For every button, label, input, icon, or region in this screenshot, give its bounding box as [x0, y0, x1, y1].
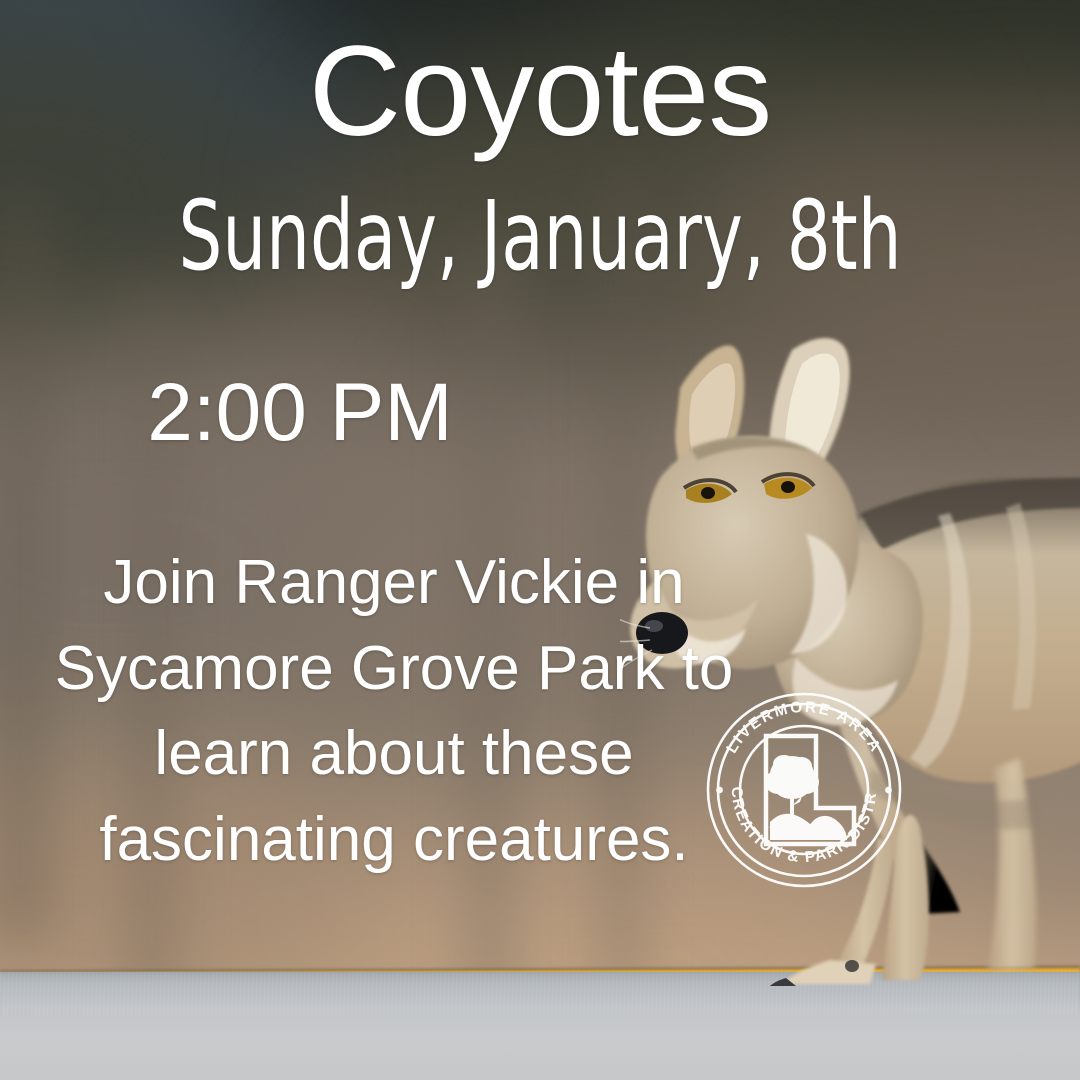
road-surface — [0, 972, 1080, 1080]
event-description: Join Ranger Vickie in Sycamore Grove Par… — [44, 540, 744, 882]
logo-arc-top-text: LIVERMORE AREA — [723, 699, 884, 757]
event-date: Sunday, January, 8th — [140, 188, 940, 284]
event-time: 2:00 PM — [0, 372, 600, 454]
page-title: Coyotes — [0, 28, 1080, 156]
event-flyer: LIVERMORE AREA RECREATION & PARK DISTRIC… — [0, 0, 1080, 1080]
description-line-1: Join Ranger Vickie in — [44, 540, 744, 626]
description-line-2: Sycamore Grove Park to — [44, 626, 744, 712]
description-line-4: fascinating creatures. — [44, 797, 744, 883]
svg-text:LIVERMORE AREA: LIVERMORE AREA — [723, 699, 884, 757]
description-line-3: learn about these — [44, 711, 744, 797]
